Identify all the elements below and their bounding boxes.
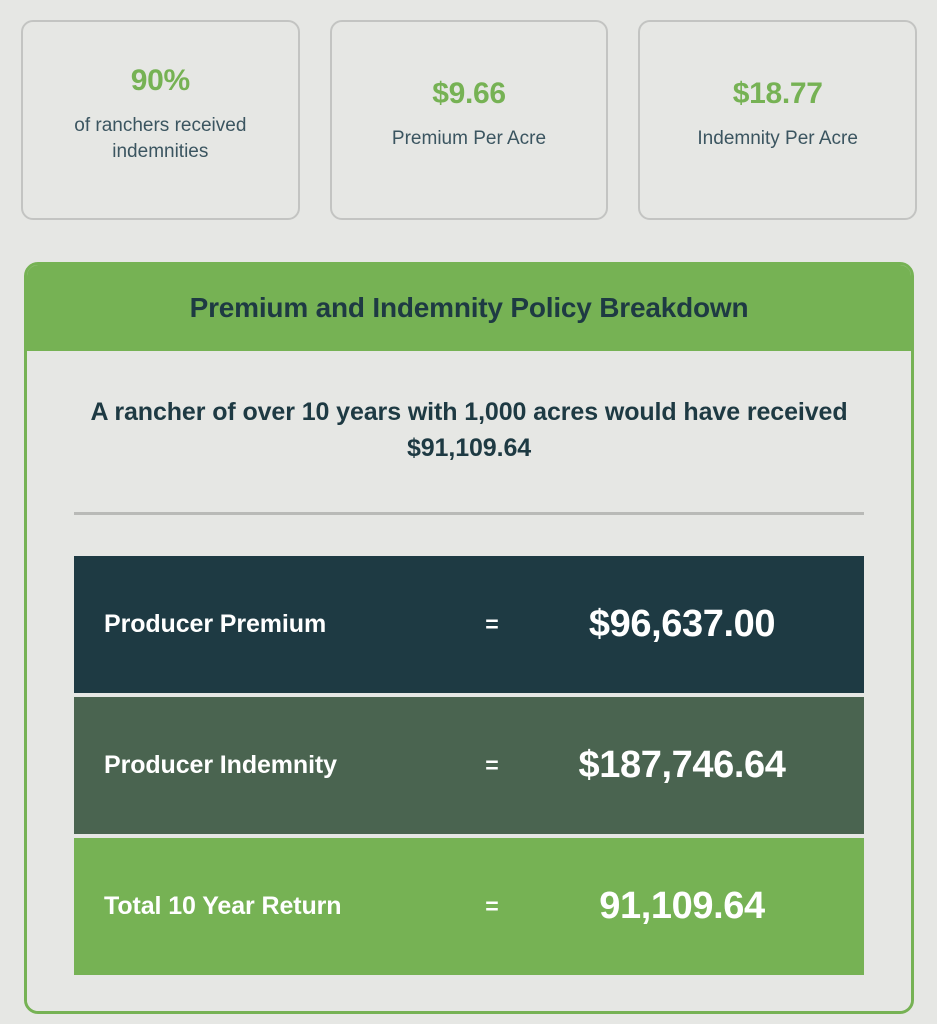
- stat-label: Indemnity Per Acre: [697, 126, 858, 152]
- row-value: $187,746.64: [520, 744, 864, 787]
- breakdown-card-body: A rancher of over 10 years with 1,000 ac…: [27, 351, 911, 1011]
- row-value: 91,109.64: [520, 885, 864, 928]
- breakdown-subtitle: A rancher of over 10 years with 1,000 ac…: [72, 395, 866, 466]
- stat-value: $9.66: [432, 77, 506, 110]
- table-row: Producer Indemnity = $187,746.64: [74, 697, 864, 834]
- row-value: $96,637.00: [520, 603, 864, 646]
- row-label: Producer Indemnity: [74, 751, 464, 780]
- table-row: Producer Premium = $96,637.00: [74, 556, 864, 693]
- equals-sign: =: [464, 752, 520, 779]
- stat-label: of ranchers received indemnities: [40, 113, 280, 164]
- stat-value: $18.77: [733, 77, 823, 110]
- table-row: Total 10 Year Return = 91,109.64: [74, 838, 864, 975]
- stat-cards-row: 90% of ranchers received indemnities $9.…: [21, 20, 917, 220]
- row-label: Total 10 Year Return: [74, 892, 464, 921]
- equals-sign: =: [464, 893, 520, 920]
- breakdown-card-header: Premium and Indemnity Policy Breakdown: [27, 265, 911, 351]
- row-label: Producer Premium: [74, 610, 464, 639]
- breakdown-rows: Producer Premium = $96,637.00 Producer I…: [72, 556, 866, 975]
- stat-label: Premium Per Acre: [392, 126, 546, 152]
- equals-sign: =: [464, 611, 520, 638]
- policy-breakdown-card: Premium and Indemnity Policy Breakdown A…: [24, 262, 914, 1014]
- stat-value: 90%: [131, 64, 190, 97]
- stat-card-premium-per-acre: $9.66 Premium Per Acre: [330, 20, 609, 220]
- stat-card-indemnity-per-acre: $18.77 Indemnity Per Acre: [638, 20, 917, 220]
- section-divider: [74, 512, 864, 515]
- stat-card-ranchers-received: 90% of ranchers received indemnities: [21, 20, 300, 220]
- breakdown-card-title: Premium and Indemnity Policy Breakdown: [190, 292, 749, 324]
- infographic-page: 90% of ranchers received indemnities $9.…: [0, 0, 937, 1024]
